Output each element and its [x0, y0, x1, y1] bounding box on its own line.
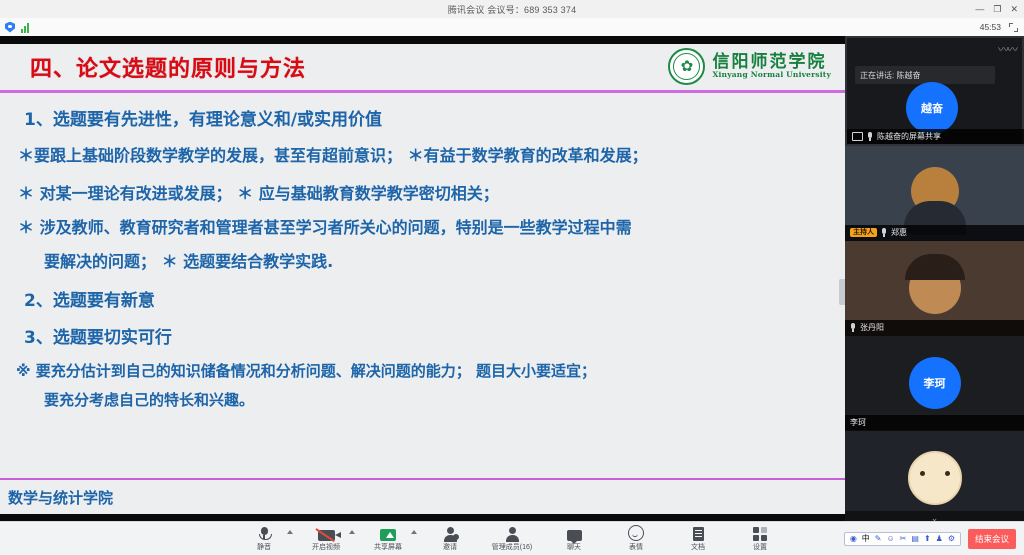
ime-upload-icon[interactable]: ⬆ [924, 535, 931, 543]
close-icon[interactable]: ✕ [1010, 5, 1018, 14]
participant-namebar-1: 张丹阳 [845, 320, 1024, 335]
shared-screen-stage[interactable]: 四、论文选题的原则与方法 ✿ 信阳师范学院 Xinyang Normal Uni… [0, 36, 845, 521]
emoji-button-label: 表情 [629, 542, 643, 552]
slide-line-9: 要充分考虑自己的特长和兴趣。 [44, 389, 831, 410]
chevron-up-icon[interactable] [349, 530, 355, 534]
participant-name-2: 李珂 [850, 417, 866, 428]
avatar [908, 451, 962, 505]
avatar [909, 262, 961, 314]
host-badge: 主持人 [850, 228, 877, 238]
manage-members-button-label: 管理成员(16) [492, 542, 532, 552]
active-speaker-pill: 正在讲话: 陈越奋 [855, 66, 995, 84]
emoji-smiley-icon [628, 526, 644, 541]
slide-line-3: ＊ 对某一理论有改进或发展； ＊ 应与基础教育数学教学密切相关； [18, 180, 831, 204]
control-bar-right-group: ◉ 中 ✎ ☺ ✂ ▤ ⬆ ♟ ⚙ 结束会议 [844, 522, 1016, 555]
start-video-button[interactable]: 开启视频 [303, 526, 349, 552]
manage-members-icon [506, 526, 519, 541]
meeting-control-bar: 静音 开启视频 共享屏幕 邀请 [0, 521, 1024, 555]
invite-button[interactable]: 邀请 [427, 526, 473, 552]
settings-button[interactable]: 设置 [737, 526, 783, 552]
meeting-timer: 45:53 [980, 22, 1001, 32]
university-emblem-icon: ✿ [668, 48, 705, 85]
mute-button-label: 静音 [257, 542, 271, 552]
ime-scissors-icon[interactable]: ✂ [900, 535, 907, 543]
manage-members-button[interactable]: 管理成员(16) [489, 526, 535, 552]
participant-video-3 [845, 431, 1024, 521]
participant-namebar-0: 主持人 郑惠 [845, 225, 1024, 240]
slide-line-4: ＊ 涉及教师、教育研究者和管理者甚至学习者所关心的问题，特别是一些教学过程中需 [18, 214, 831, 238]
participant-name-1: 张丹阳 [860, 322, 884, 333]
slide-title: 四、论文选题的原则与方法 [30, 51, 306, 83]
slide-body: 1、选题要有先进性，有理论意义和/或实用价值 ＊要跟上基础阶段数学教学的发展，甚… [0, 93, 845, 478]
minimize-icon[interactable]: — [975, 5, 984, 14]
end-meeting-button[interactable]: 结束会议 [968, 529, 1016, 549]
shield-icon[interactable] [5, 22, 15, 33]
slide-line-1: 1、选题要有先进性，有理论意义和/或实用价值 [24, 105, 831, 130]
participant-tile-2[interactable]: 李珂 李珂 [845, 336, 1024, 431]
screen-share-icon [380, 526, 396, 541]
ime-skin-icon[interactable]: ♟ [936, 535, 943, 543]
screen-share-tile[interactable]: 正在讲话: 陈越奋 〰〰 越奋 陈越奋的屏幕共享 [845, 36, 1024, 146]
presentation-slide: 四、论文选题的原则与方法 ✿ 信阳师范学院 Xinyang Normal Uni… [0, 44, 845, 514]
slide-header: 四、论文选题的原则与方法 ✿ 信阳师范学院 Xinyang Normal Uni… [0, 44, 845, 90]
university-name-en: Xinyang Normal University [712, 71, 831, 79]
participant-video-sidebar[interactable]: 正在讲话: 陈越奋 〰〰 越奋 陈越奋的屏幕共享 主持人 郑惠 [845, 36, 1024, 521]
slide-line-6: 2、选题要有新意 [24, 286, 831, 311]
slide-footer-text: 数学与统计学院 [8, 487, 113, 508]
microphone-icon [881, 228, 887, 237]
chevron-up-icon[interactable] [411, 530, 417, 534]
camera-off-icon [318, 526, 335, 541]
window-title-bar: 腾讯会议 会议号：689 353 374 — ❐ ✕ [0, 0, 1024, 19]
participant-tile-3[interactable]: ⌄ [845, 431, 1024, 521]
share-tile-namebar: 陈越奋的屏幕共享 [847, 129, 1024, 144]
chat-button[interactable]: 聊天 [551, 526, 597, 552]
participant-avatar-initials-2: 李珂 [924, 375, 946, 391]
participant-tile-0[interactable]: 主持人 郑惠 [845, 146, 1024, 241]
slide-footer: 数学与统计学院 [0, 480, 845, 514]
ime-keyboard-icon[interactable]: ▤ [911, 535, 919, 543]
avatar [911, 167, 959, 215]
mute-button[interactable]: 静音 [241, 526, 287, 552]
slide-line-7: 3、选题要切实可行 [24, 323, 831, 348]
maximize-icon[interactable]: ❐ [993, 5, 1001, 14]
window-title: 腾讯会议 会议号：689 353 374 [448, 3, 577, 16]
settings-grid-icon [753, 526, 767, 541]
document-button[interactable]: 文档 [675, 526, 721, 552]
invite-person-icon [444, 526, 457, 541]
ime-emoji-icon[interactable]: ☺ [887, 535, 895, 543]
scroll-down-chevron-icon[interactable]: ⌄ [845, 511, 1024, 521]
ime-mode-label[interactable]: 中 [862, 535, 870, 543]
university-name-block: 信阳师范学院 Xinyang Normal University [712, 54, 831, 80]
slide-line-8: ※ 要充分估计到自己的知识储备情况和分析问题、解决问题的能力； 题目大小要适宜； [16, 360, 831, 381]
status-right-group: 45:53 [980, 18, 1018, 36]
share-screen-button-label: 共享屏幕 [374, 542, 402, 552]
microphone-icon [867, 132, 873, 141]
status-strip: 45:53 [0, 18, 1024, 37]
start-video-button-label: 开启视频 [312, 542, 340, 552]
ime-pen-icon[interactable]: ✎ [875, 535, 882, 543]
meeting-app-window: 腾讯会议 会议号：689 353 374 — ❐ ✕ 45:53 四、论文选题的… [0, 0, 1024, 554]
microphone-icon [850, 323, 856, 332]
slide-line-5: 要解决的问题； ＊ 选题要结合教学实践. [44, 248, 831, 272]
signal-bars-icon[interactable] [21, 22, 29, 33]
participant-avatar-2: 李珂 [909, 357, 961, 409]
microphone-icon [261, 526, 268, 541]
university-logo: ✿ 信阳师范学院 Xinyang Normal University [668, 48, 831, 85]
ime-logo-icon[interactable]: ◉ [850, 535, 857, 543]
chevron-up-icon[interactable] [287, 530, 293, 534]
slide-line-2: ＊要跟上基础阶段数学教学的发展，甚至有超前意识； ＊有益于数学教育的改革和发展； [18, 142, 831, 166]
emblem-glyph: ✿ [681, 59, 694, 74]
share-screen-button[interactable]: 共享屏幕 [365, 526, 411, 552]
share-avatar-initials: 越奋 [921, 100, 943, 116]
window-buttons: — ❐ ✕ [975, 0, 1018, 18]
status-left-group [5, 18, 29, 36]
audio-wave-icon: 〰〰 [998, 41, 1016, 57]
screen-share-icon [852, 132, 863, 141]
participant-tile-1[interactable]: 张丹阳 [845, 241, 1024, 336]
invite-button-label: 邀请 [443, 542, 457, 552]
share-avatar: 越奋 [906, 82, 958, 134]
university-name-cn: 信阳师范学院 [712, 54, 831, 72]
ime-settings-icon[interactable]: ⚙ [948, 535, 955, 543]
share-tile-name: 陈越奋的屏幕共享 [877, 131, 941, 142]
fullscreen-icon[interactable] [1009, 23, 1018, 32]
emoji-button[interactable]: 表情 [613, 526, 659, 552]
document-button-label: 文档 [691, 542, 705, 552]
active-speaker-label: 正在讲话: 陈越奋 [860, 70, 920, 81]
chat-bubble-icon [567, 526, 582, 541]
participant-namebar-2: 李珂 [845, 415, 1024, 430]
document-icon [693, 526, 704, 541]
participant-name-0: 郑惠 [891, 227, 907, 238]
settings-button-label: 设置 [753, 542, 767, 552]
ime-toolbar[interactable]: ◉ 中 ✎ ☺ ✂ ▤ ⬆ ♟ ⚙ [844, 532, 961, 546]
